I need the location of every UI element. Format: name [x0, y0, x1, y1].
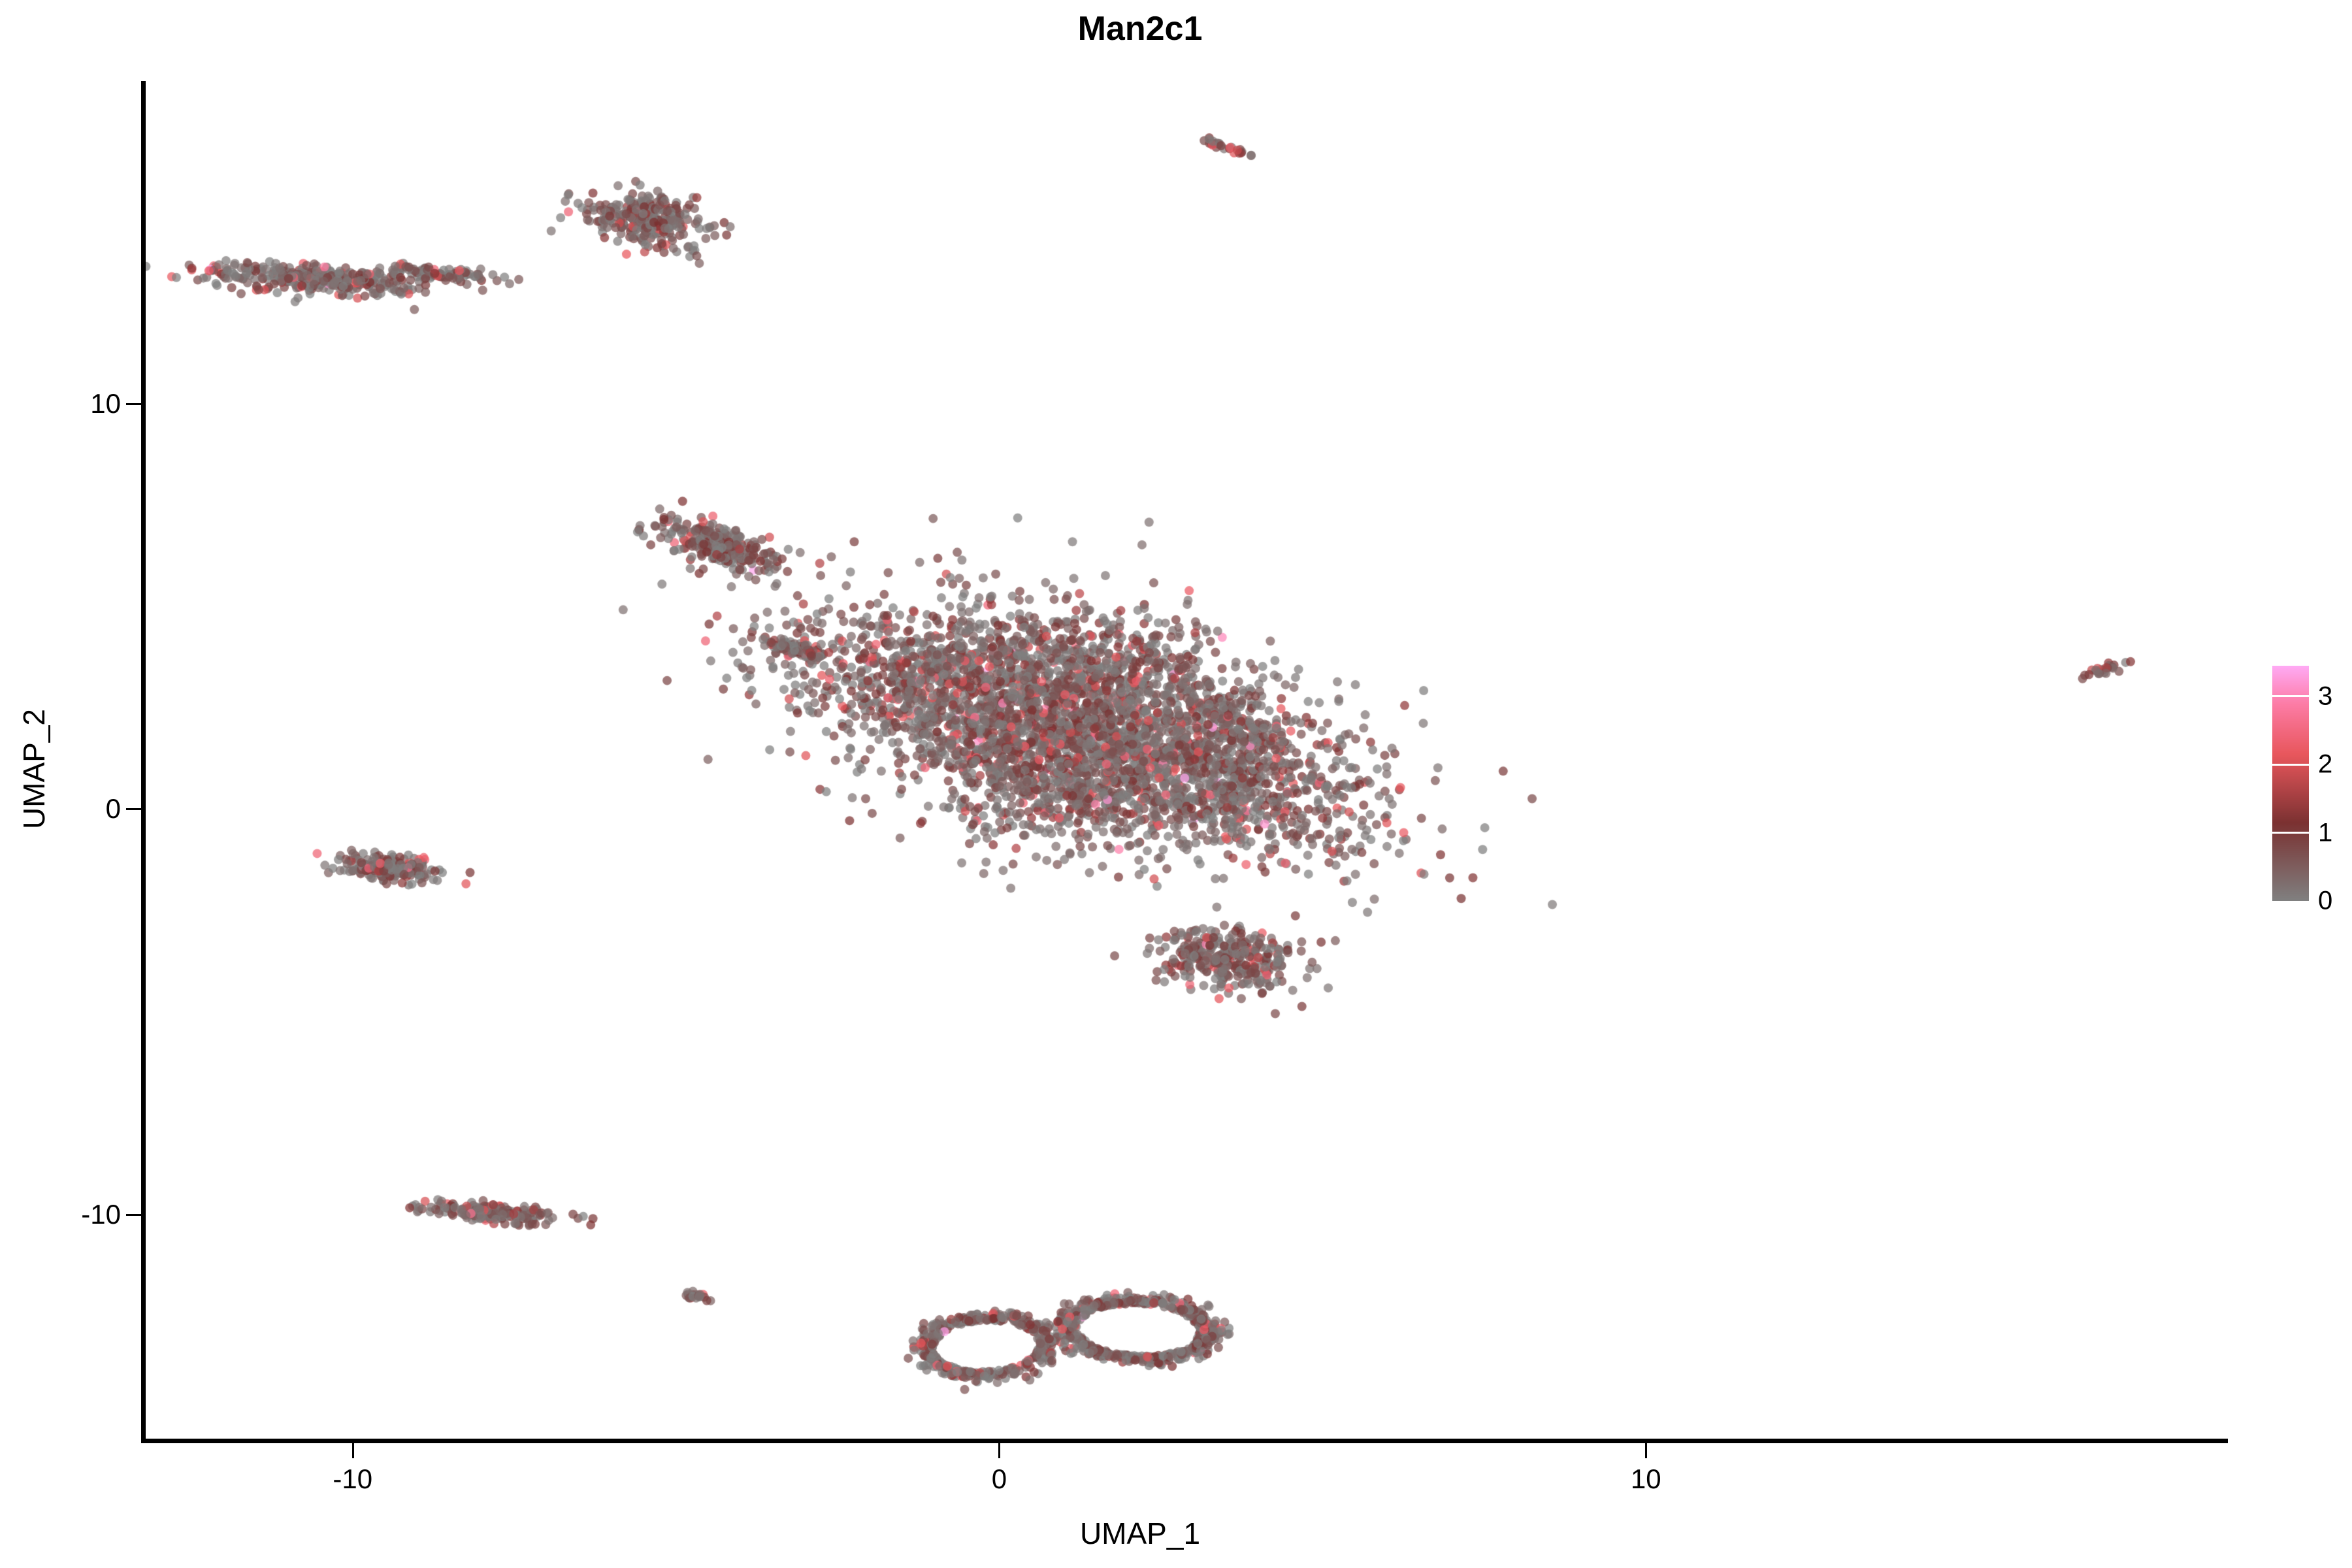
- y-tick-mark: [126, 808, 141, 810]
- color-legend: 0123: [2272, 666, 2351, 901]
- x-tick-mark: [352, 1443, 354, 1458]
- x-tick-label: 10: [1631, 1463, 1661, 1495]
- x-tick-mark: [998, 1443, 1000, 1458]
- legend-tick-mark: [2272, 832, 2309, 834]
- scatter-points-layer: [146, 84, 2228, 1441]
- plot-panel: [146, 84, 2228, 1441]
- y-tick-mark: [126, 403, 141, 405]
- y-tick-label: -10: [81, 1199, 121, 1230]
- legend-tick-label: 0: [2318, 887, 2332, 916]
- x-axis-line: [141, 1439, 2228, 1443]
- x-tick-label: -10: [333, 1463, 372, 1495]
- x-tick-label: 0: [992, 1463, 1007, 1495]
- y-axis-line: [141, 81, 146, 1443]
- y-tick-label: 10: [90, 388, 121, 419]
- y-tick-mark: [126, 1214, 141, 1216]
- legend-tick-label: 2: [2318, 750, 2332, 779]
- page-title: Man2c1: [0, 9, 2280, 48]
- y-axis-title: UMAP_2: [16, 442, 52, 1096]
- legend-colorbar: [2272, 666, 2309, 901]
- x-tick-mark: [1645, 1443, 1647, 1458]
- legend-tick-label: 1: [2318, 818, 2332, 847]
- legend-tick-mark: [2272, 695, 2309, 697]
- umap-feature-plot: Man2c1 -10010 -10010 UMAP_1 UMAP_2 0123: [0, 0, 2352, 1568]
- x-axis-title: UMAP_1: [0, 1516, 2280, 1551]
- legend-tick-mark: [2272, 764, 2309, 766]
- y-tick-label: 0: [106, 793, 121, 825]
- legend-tick-label: 3: [2318, 681, 2332, 711]
